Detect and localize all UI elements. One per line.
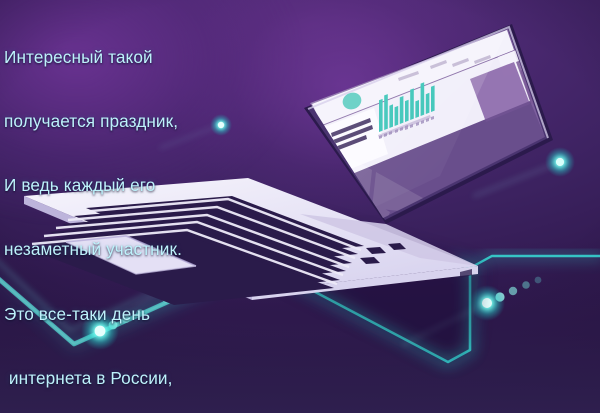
circuit-path-right-exit [470, 256, 600, 268]
poem-line-3: И ведь каждый его [4, 175, 262, 196]
poem-line-6: интернета в России, [4, 368, 262, 389]
circuit-path-laptop-outline [243, 252, 470, 362]
poem-line-4: незаметный участник. [4, 239, 262, 260]
poem-line-2: получается праздник, [4, 111, 262, 132]
poem-line-1: Интересный такой [4, 47, 262, 68]
poem-text: Интересный такой получается праздник, И … [4, 4, 262, 413]
illustration-canvas: Интересный такой получается праздник, И … [0, 0, 600, 413]
poem-line-5: Это все-таки день [4, 304, 262, 325]
